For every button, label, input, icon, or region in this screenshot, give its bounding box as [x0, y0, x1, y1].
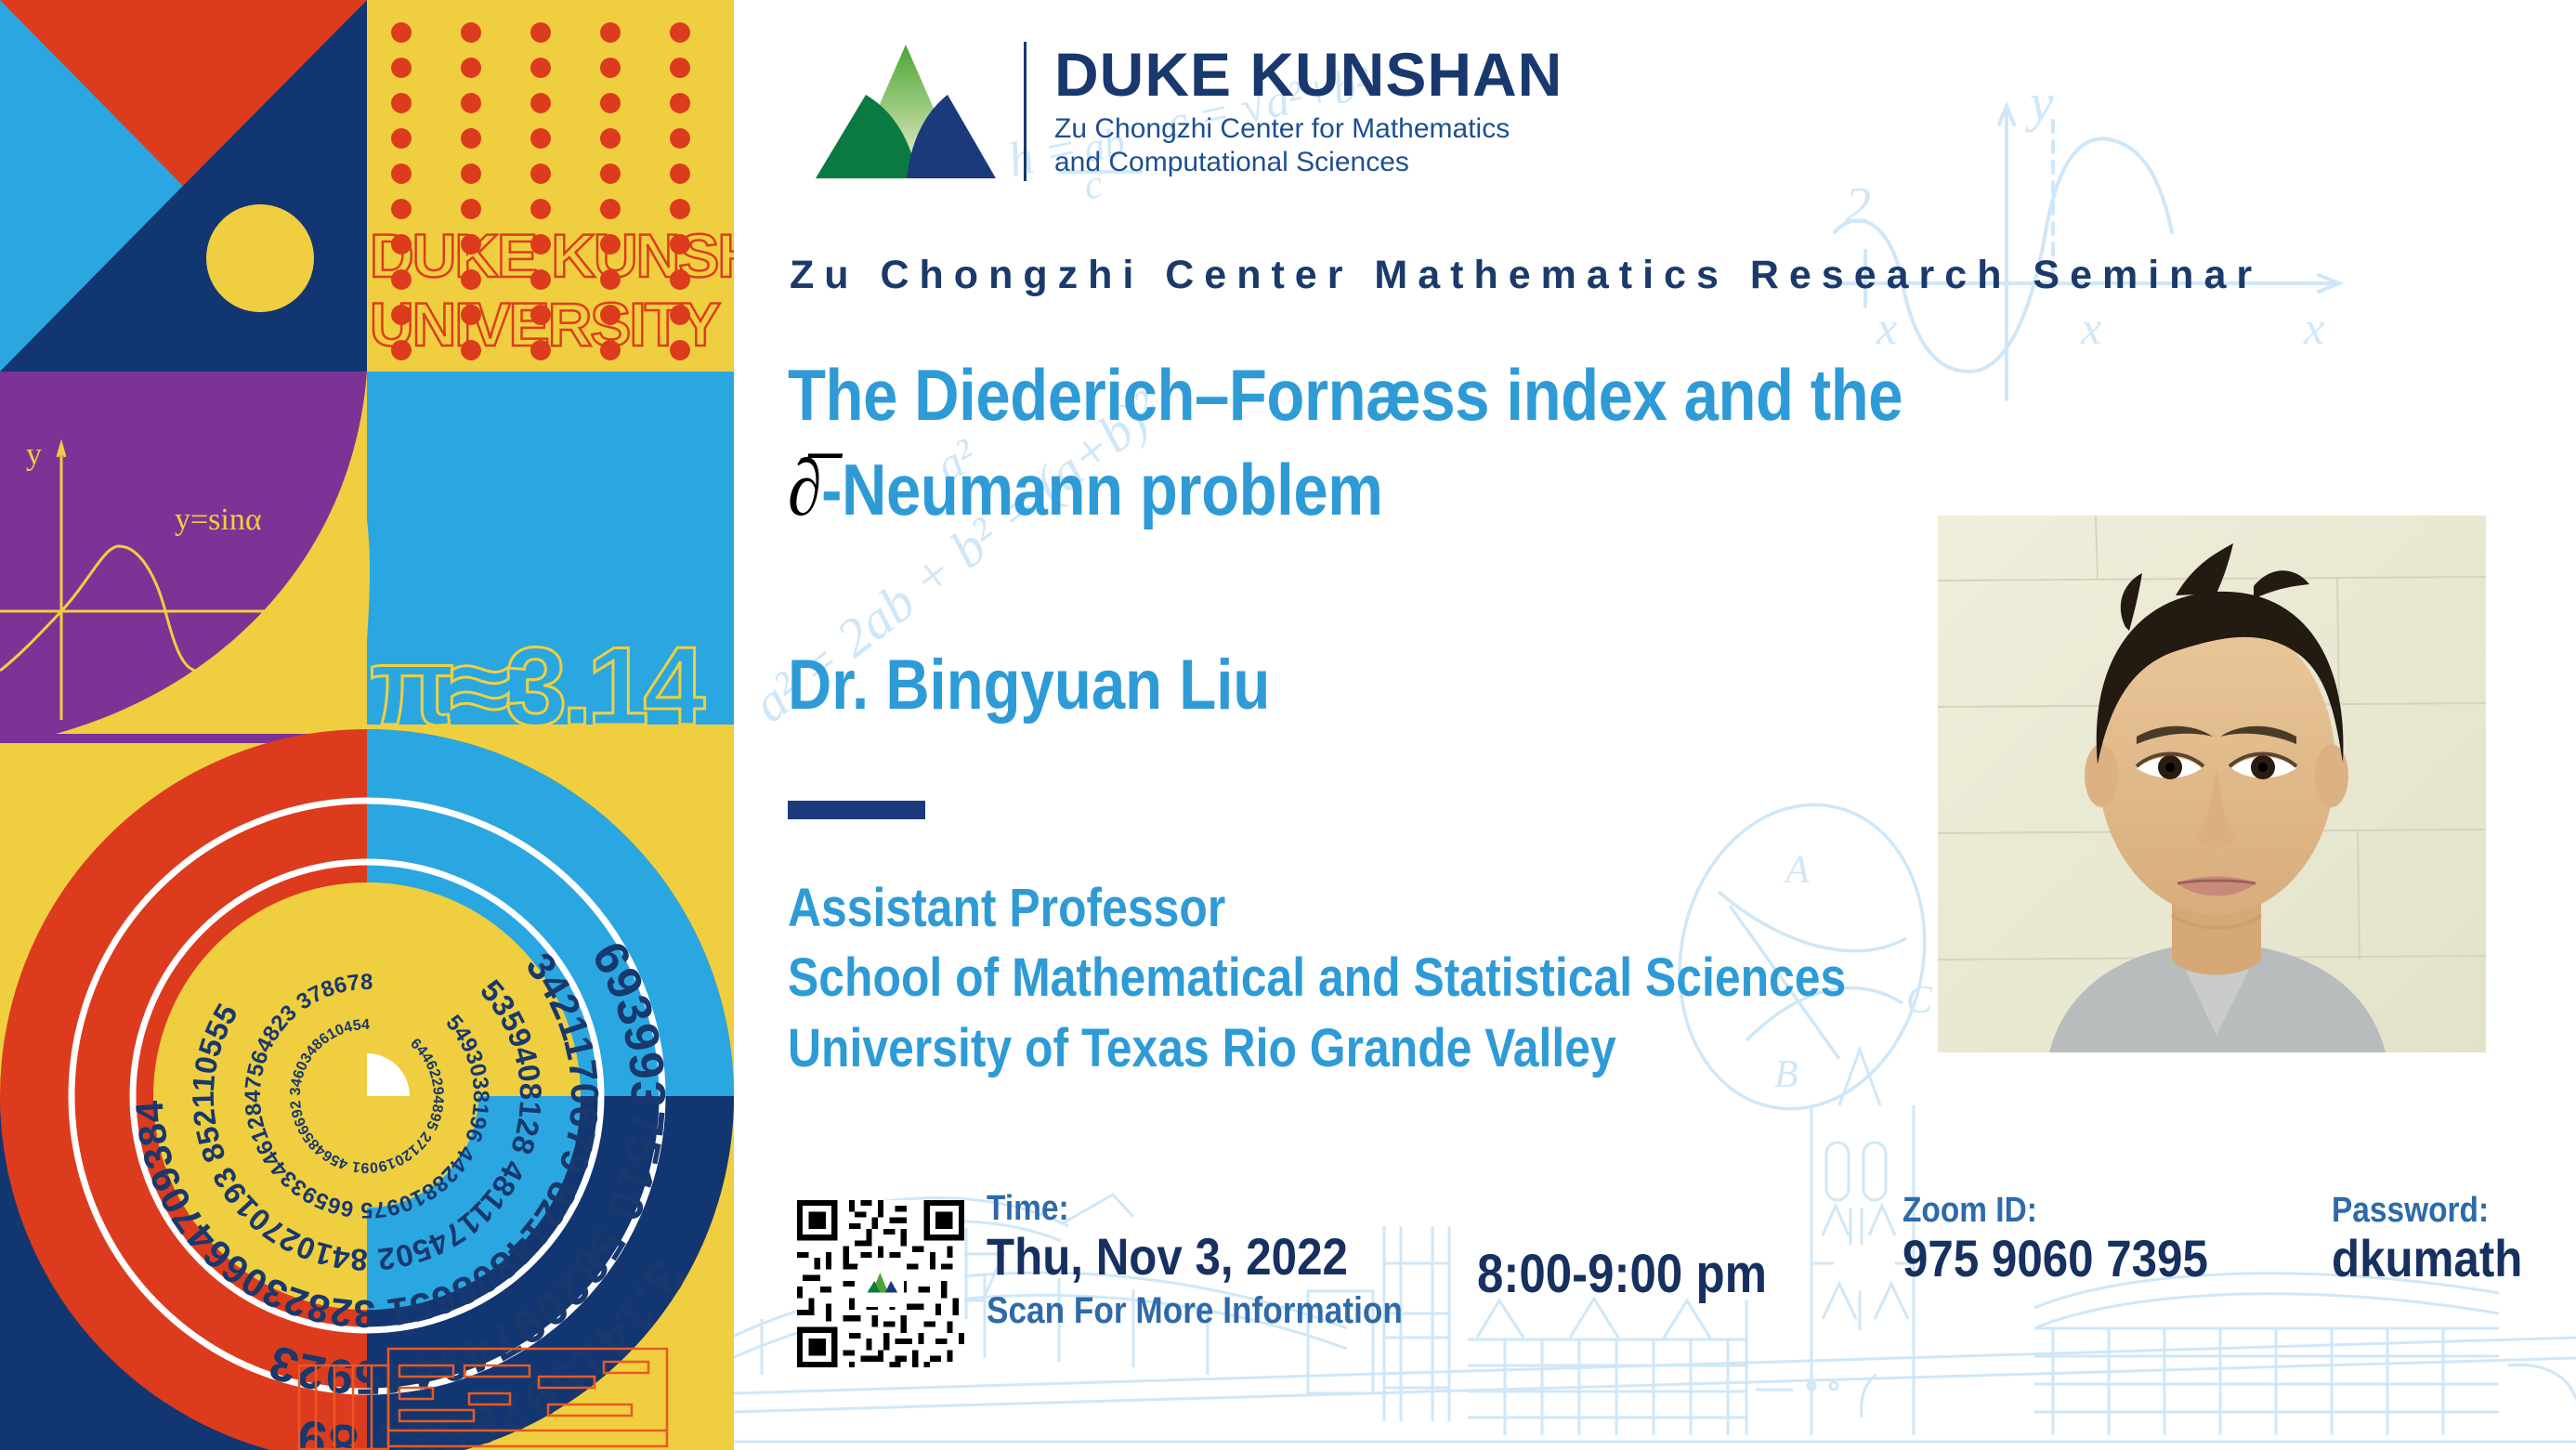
dku-logo: DUKE KUNSHAN Zu Chongzhi Center for Math…	[808, 37, 1563, 186]
speaker-portrait-image	[1938, 516, 2486, 1052]
talk-title-line2-rest: -Neumann problem	[821, 449, 1382, 530]
speaker-name: Dr. Bingyuan Liu	[788, 645, 1270, 725]
password-column: Password: dkumath	[2332, 1193, 2548, 1288]
decorative-panel-graphics: DUKE KUNSHAN UNIVERSITY y y=sinα	[0, 0, 734, 1450]
time-label: Time:	[987, 1191, 1403, 1228]
affiliation-line-2: School of Mathematical and Statistical S…	[788, 943, 1922, 1012]
logo-divider	[1024, 42, 1026, 181]
password-value[interactable]: dkumath	[2332, 1230, 2522, 1288]
zoom-id-column: Zoom ID: 975 9060 7395	[1903, 1193, 2250, 1288]
seminar-series-kicker: Zu Chongzhi Center Mathematics Research …	[790, 253, 2262, 298]
sine-equation-label: y=sinα	[175, 503, 262, 537]
speaker-affiliation: Assistant Professor School of Mathematic…	[788, 873, 2107, 1083]
decorative-panel: DUKE KUNSHAN UNIVERSITY y y=sinα	[0, 0, 734, 1450]
talk-title-line2: ∂̅-Neumann problem	[788, 439, 1970, 537]
qr-code-icon[interactable]	[797, 1200, 964, 1367]
poster-content: DUKE KUNSHAN Zu Chongzhi Center for Math…	[734, 0, 2576, 1450]
yellow-circle	[206, 204, 314, 312]
dbar-symbol: ∂̅	[788, 443, 821, 532]
speaker-photo	[1938, 516, 2486, 1052]
zoom-id-label: Zoom ID:	[1903, 1193, 2208, 1230]
event-date: Thu, Nov 3, 2022	[987, 1228, 1403, 1287]
password-label: Password:	[2332, 1193, 2522, 1230]
event-time-range: 8:00-9:00 pm	[1477, 1243, 1767, 1305]
affiliation-line-3: University of Texas Rio Grande Valley	[788, 1013, 1922, 1083]
logo-title: DUKE KUNSHAN	[1054, 44, 1563, 105]
panel-outline-text-line1: DUKE KUNSHAN	[370, 221, 734, 290]
zoom-id-value[interactable]: 975 9060 7395	[1903, 1230, 2208, 1288]
sine-axis-label: y	[26, 438, 42, 472]
affiliation-line-1: Assistant Professor	[788, 873, 1922, 943]
talk-title-line1: The Diederich–Fornæss index and the	[788, 351, 1970, 439]
pi-approx-text: π≈3.14	[370, 624, 706, 749]
title-rule	[788, 801, 925, 819]
event-info-bar: Time: Thu, Nov 3, 2022 Scan For More Inf…	[734, 1189, 2576, 1412]
talk-title: The Diederich–Fornæss index and the ∂̅-N…	[788, 351, 2163, 537]
scan-instruction: Scan For More Information	[987, 1290, 1403, 1331]
panel-outline-text-line2: UNIVERSITY	[370, 290, 720, 359]
logo-subtitle-line1: Zu Chongzhi Center for Mathematics	[1054, 112, 1563, 146]
time-column: Time: Thu, Nov 3, 2022 Scan For More Inf…	[987, 1191, 1459, 1331]
duke-kunshan-mountains-logo-icon	[808, 37, 1003, 186]
logo-subtitle-line2: and Computational Sciences	[1054, 146, 1563, 179]
seminar-poster: DUKE KUNSHAN UNIVERSITY y y=sinα	[0, 0, 2576, 1450]
